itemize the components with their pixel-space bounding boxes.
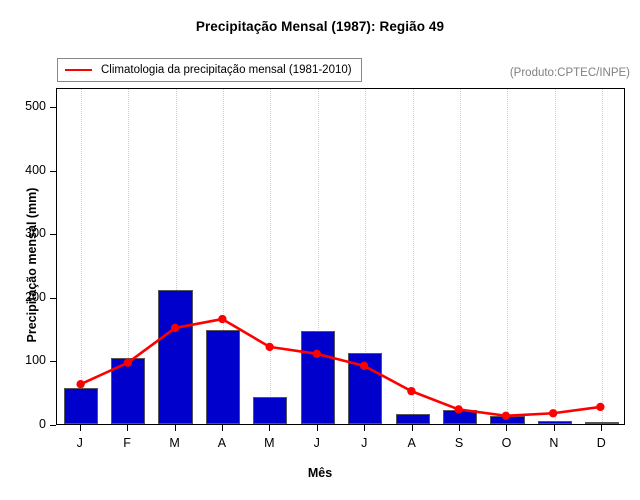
x-axis-tick-mark (269, 425, 270, 431)
climatology-data-point (124, 359, 132, 367)
climatology-data-point (596, 403, 604, 411)
x-axis-tick-label: J (302, 436, 332, 450)
x-axis-tick-mark (80, 425, 81, 431)
x-axis-tick-label: M (160, 436, 190, 450)
x-axis-tick-mark (364, 425, 365, 431)
x-axis-tick-mark (506, 425, 507, 431)
climatology-data-point (76, 380, 84, 388)
legend-line-swatch-icon (65, 69, 92, 71)
x-axis-tick-label: A (207, 436, 237, 450)
x-axis-tick-mark (459, 425, 460, 431)
x-axis-tick-label: M (254, 436, 284, 450)
climatology-data-point (265, 343, 273, 351)
climatology-line-series (57, 89, 624, 424)
y-axis-tick-label: 0 (6, 417, 46, 431)
climatology-data-point (454, 405, 462, 413)
climatology-data-point (360, 362, 368, 370)
y-axis-tick-label: 400 (6, 163, 46, 177)
y-axis-tick-mark (50, 425, 56, 426)
climatology-data-point (313, 350, 321, 358)
x-axis-tick-label: J (65, 436, 95, 450)
x-axis-tick-mark (222, 425, 223, 431)
climatology-line (81, 319, 601, 416)
climatology-data-point (502, 412, 510, 420)
x-axis-tick-label: D (586, 436, 616, 450)
y-axis-tick-label: 100 (6, 353, 46, 367)
precipitation-chart-figure: Precipitação Mensal (1987): Região 49 Pr… (0, 0, 640, 500)
x-axis-label: Mês (0, 466, 640, 480)
climatology-data-point (407, 387, 415, 395)
y-axis-tick-label: 300 (6, 226, 46, 240)
y-axis-tick-label: 200 (6, 290, 46, 304)
x-axis-tick-label: S (444, 436, 474, 450)
x-axis-tick-label: A (397, 436, 427, 450)
product-credit-annotation: (Produto:CPTEC/INPE) (510, 67, 630, 79)
x-axis-tick-mark (127, 425, 128, 431)
x-axis-tick-label: J (349, 436, 379, 450)
x-axis-tick-label: F (112, 436, 142, 450)
x-axis-tick-mark (601, 425, 602, 431)
x-axis-tick-mark (554, 425, 555, 431)
x-axis-tick-label: O (491, 436, 521, 450)
climatology-data-point (218, 315, 226, 323)
x-axis-tick-label: N (539, 436, 569, 450)
chart-title: Precipitação Mensal (1987): Região 49 (0, 19, 640, 34)
x-axis-tick-mark (175, 425, 176, 431)
x-axis-tick-mark (412, 425, 413, 431)
climatology-data-point (171, 324, 179, 332)
plot-area (56, 88, 625, 425)
chart-legend: Climatologia da precipitação mensal (198… (57, 58, 362, 82)
legend-entry-label: Climatologia da precipitação mensal (198… (101, 64, 352, 76)
climatology-data-point (549, 409, 557, 417)
y-axis-tick-label: 500 (6, 99, 46, 113)
x-axis-tick-mark (317, 425, 318, 431)
